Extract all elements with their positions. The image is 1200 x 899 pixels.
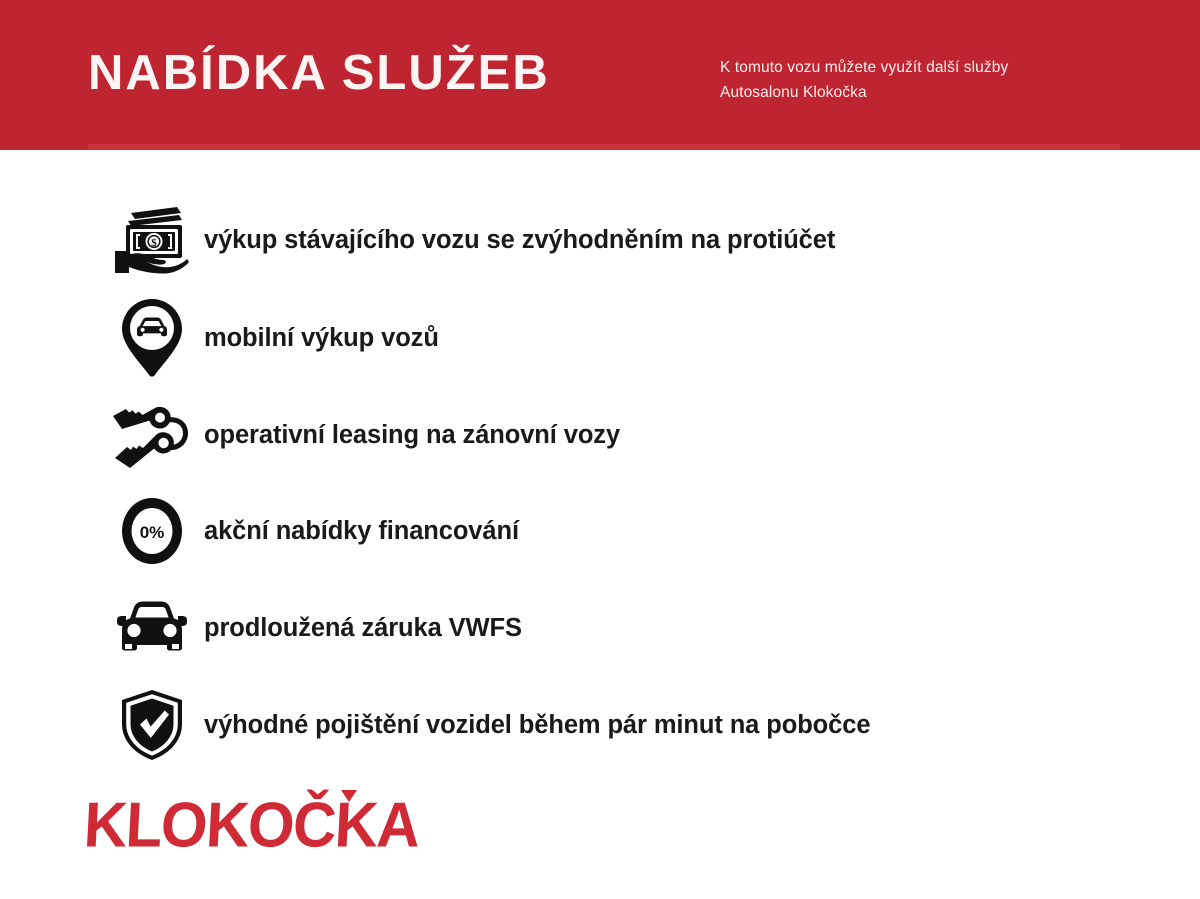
header-subtitle-line-2: Autosalonu Klokočka xyxy=(720,80,1140,105)
klokocka-logo: KLOKOČKA xyxy=(86,788,476,854)
service-label: prodloužená záruka VWFS xyxy=(204,614,522,643)
svg-text:$: $ xyxy=(151,237,157,249)
money-in-hand-icon: $ xyxy=(110,198,194,282)
service-label: operativní leasing na zánovní vozy xyxy=(204,421,620,450)
page-header: NABÍDKA SLUŽEB K tomuto vozu můžete využ… xyxy=(0,0,1200,150)
service-label: výkup stávajícího vozu se zvýhodněním na… xyxy=(204,226,835,255)
map-pin-car-icon xyxy=(110,296,194,380)
header-accent-stripe xyxy=(88,144,1120,150)
list-item: 0% akční nabídky financování xyxy=(110,483,519,579)
car-keys-icon xyxy=(110,393,194,477)
list-item: operativní leasing na zánovní vozy xyxy=(110,387,620,483)
header-subtitle: K tomuto vozu můžete využít další služby… xyxy=(720,55,1140,105)
page-title: NABÍDKA SLUŽEB xyxy=(88,44,550,102)
service-label: mobilní výkup vozů xyxy=(204,324,439,353)
header-content: NABÍDKA SLUŽEB K tomuto vozu můžete využ… xyxy=(88,0,1200,150)
list-item: prodloužená záruka VWFS xyxy=(110,580,522,676)
zero-percent-label: 0% xyxy=(140,523,165,542)
header-subtitle-line-1: K tomuto vozu můžete využít další služby xyxy=(720,55,1140,80)
list-item: mobilní výkup vozů xyxy=(110,290,439,386)
zero-percent-circle-icon: 0% xyxy=(110,489,194,573)
klokocka-logo-text: KLOKOČKA xyxy=(86,790,421,854)
car-front-icon xyxy=(110,586,194,670)
service-label: akční nabídky financování xyxy=(204,517,519,546)
service-label: výhodné pojištění vozidel během pár minu… xyxy=(204,711,870,740)
list-item: výhodné pojištění vozidel během pár minu… xyxy=(110,677,870,773)
list-item: $ výkup stávajícího vozu se zvýhodněním … xyxy=(110,192,835,288)
shield-check-icon xyxy=(110,683,194,767)
